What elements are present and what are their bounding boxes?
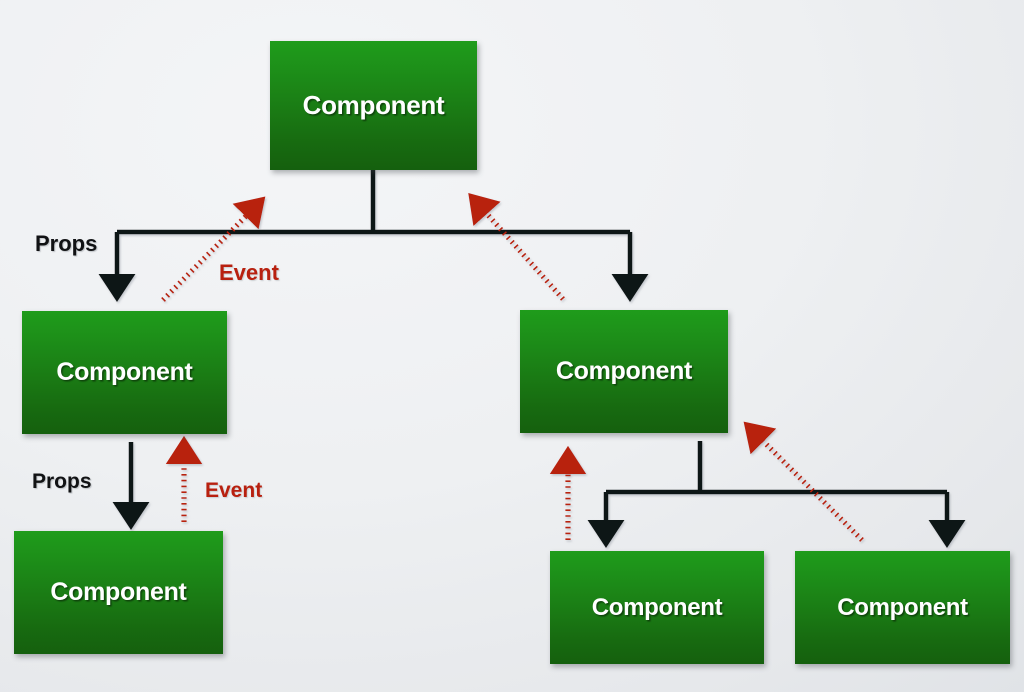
connector-leftmid-to-root-event	[163, 208, 254, 300]
component-node-left-mid[interactable]: Component	[22, 311, 227, 434]
connector-rightmid-to-children-props	[606, 441, 947, 534]
diagram-canvas: Component Component Component Component …	[0, 0, 1024, 692]
component-node-label: Component	[592, 594, 723, 622]
annotation-event-top: Event	[219, 260, 279, 286]
component-node-label: Component	[56, 358, 192, 387]
connector-rightleaf2-to-rightmid-event	[755, 433, 862, 540]
annotation-event-bottom: Event	[205, 479, 262, 503]
component-node-left-leaf[interactable]: Component	[14, 531, 223, 654]
annotation-props-top: Props	[35, 231, 97, 257]
component-node-right-leaf-2[interactable]: Component	[795, 551, 1010, 664]
component-node-right-leaf-1[interactable]: Component	[550, 551, 764, 664]
component-node-label: Component	[556, 357, 692, 386]
component-node-label: Component	[303, 90, 445, 121]
component-node-right-mid[interactable]: Component	[520, 310, 728, 433]
component-node-label: Component	[837, 594, 968, 622]
component-node-label: Component	[50, 578, 186, 607]
connector-root-to-children-props	[117, 170, 630, 288]
component-node-root[interactable]: Component	[270, 41, 477, 170]
connector-rightmid-to-root-event	[479, 205, 563, 299]
annotation-props-bottom: Props	[32, 470, 92, 494]
